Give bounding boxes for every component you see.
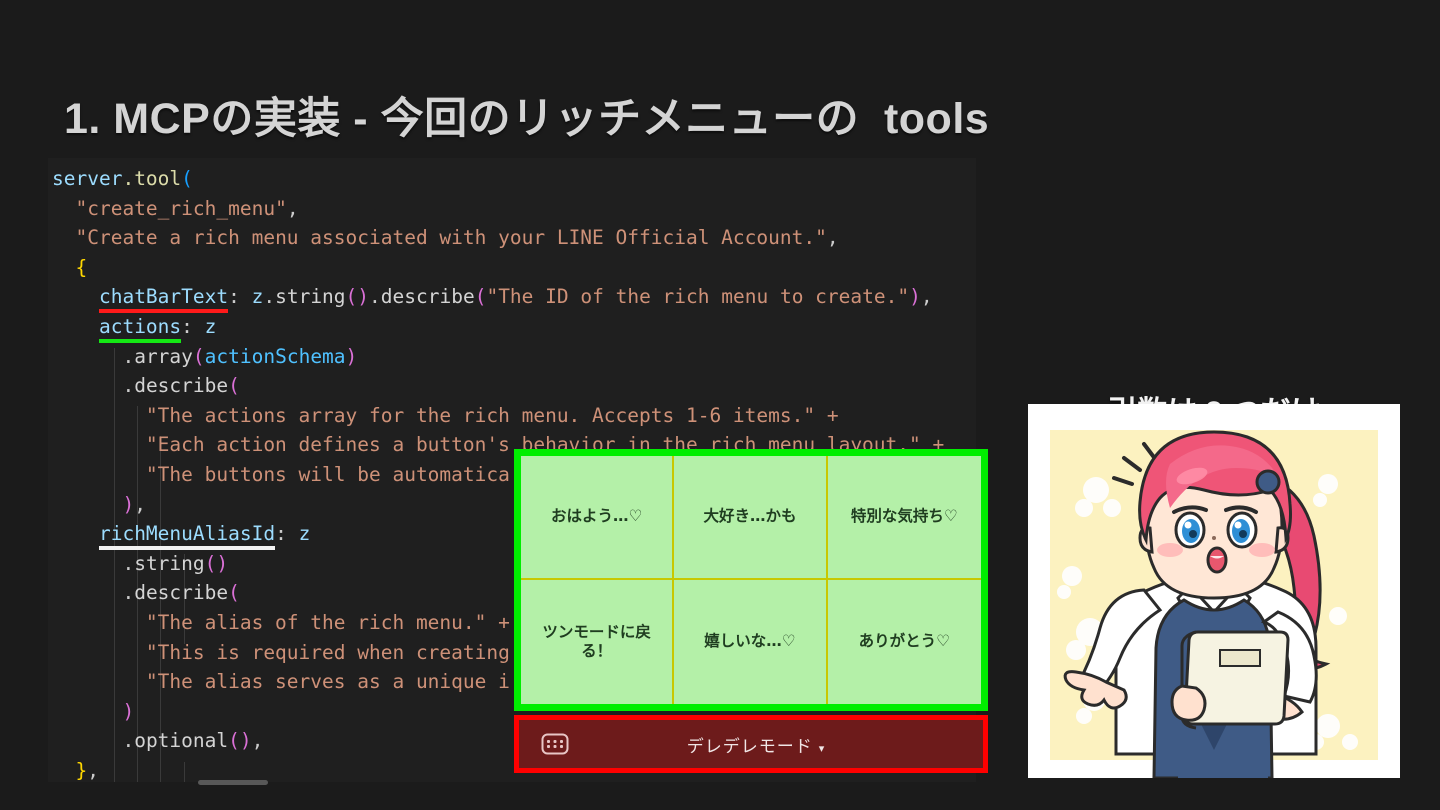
code-line: "The actions array for the rich menu. Ac… [48, 401, 976, 431]
code-line: "create_rich_menu", [48, 194, 976, 224]
slide-root: 1. MCPの実装 - 今回のリッチメニューの tools server.too… [0, 0, 1440, 810]
home-indicator [198, 780, 268, 785]
code-token-alias-desc-2: "This is required when creating [146, 641, 510, 664]
code-token-desc-1: "The actions array for the rich menu. Ac… [146, 404, 839, 427]
rich-menu-chat-bar[interactable]: デレデレモード▾ [514, 715, 988, 773]
code-token-tool-id: "create_rich_menu" [75, 197, 286, 220]
rich-menu-bar-text: デレデレモード [687, 737, 813, 757]
code-line: actions: z [48, 312, 976, 342]
code-token-alias-desc-3: "The alias serves as a unique i [146, 670, 510, 693]
page-title: 1. MCPの実装 - 今回のリッチメニューの tools [64, 84, 989, 146]
code-token-desc-3: "The buttons will be automatica [146, 463, 510, 486]
code-line: .array(actionSchema) [48, 342, 976, 372]
rich-menu-cell-3[interactable]: 特別な気持ち♡ [828, 456, 981, 580]
code-param-richmenualiasid: richMenuAliasId [99, 522, 275, 550]
rich-menu-cell-6[interactable]: ありがとう♡ [828, 580, 981, 704]
keyboard-icon[interactable] [541, 733, 569, 755]
rich-menu-bar-label: デレデレモード▾ [569, 732, 943, 757]
rich-menu-cell-1[interactable]: おはよう…♡ [521, 456, 674, 580]
rich-menu-cell-4[interactable]: ツンモードに戻る！ [521, 580, 674, 704]
code-token-method: .tool [122, 167, 181, 190]
chevron-down-icon: ▾ [819, 742, 826, 755]
code-line: chatBarText: z.string().describe("The ID… [48, 282, 976, 312]
rich-menu-overlay: おはよう…♡ 大好き…かも 特別な気持ち♡ ツンモードに戻る！ 嬉しいな…♡ あ… [514, 449, 988, 781]
code-token-z: z [205, 315, 217, 338]
code-line: "Create a rich menu associated with your… [48, 223, 976, 253]
illustration-card [1028, 404, 1400, 778]
code-line: .describe( [48, 371, 976, 401]
code-param-chatbartext: chatBarText [99, 285, 228, 313]
code-line: { [48, 253, 976, 283]
rich-menu-cell-2[interactable]: 大好き…かも [674, 456, 827, 580]
code-token-alias-desc-1: "The alias of the rich menu." + [146, 611, 510, 634]
code-token-action-schema: actionSchema [205, 345, 346, 368]
code-line: server.tool( [48, 164, 976, 194]
rich-menu-grid: おはよう…♡ 大好き…かも 特別な気持ち♡ ツンモードに戻る！ 嬉しいな…♡ あ… [514, 449, 988, 711]
code-token-z: z [299, 522, 311, 545]
code-token-object: server [52, 167, 122, 190]
rich-menu-cell-5[interactable]: 嬉しいな…♡ [674, 580, 827, 704]
anime-girl-illustration [1028, 404, 1400, 778]
code-param-actions: actions [99, 315, 181, 343]
code-token-tool-desc: "Create a rich menu associated with your… [75, 226, 826, 249]
